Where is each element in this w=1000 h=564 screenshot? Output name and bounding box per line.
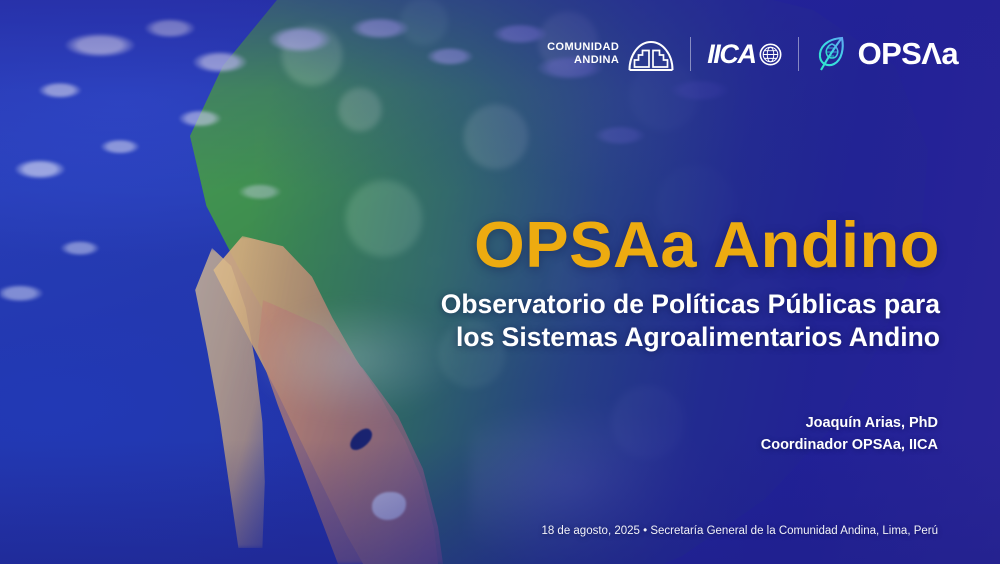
- page-subtitle: Observatorio de Políticas Públicas para …: [240, 288, 940, 354]
- logo-divider-1: [690, 37, 691, 71]
- leaf-swirl-icon: [815, 34, 849, 74]
- author-block: Joaquín Arias, PhD Coordinador OPSAa, II…: [761, 412, 938, 457]
- author-name: Joaquín Arias, PhD: [761, 412, 938, 434]
- author-role: Coordinador OPSAa, IICA: [761, 434, 938, 456]
- logo-iica: IICA: [707, 39, 781, 70]
- headline-block: OPSAa Andino Observatorio de Políticas P…: [240, 212, 940, 355]
- comunidad-andina-wordmark: COMUNIDAD ANDINA: [547, 41, 619, 67]
- footer-credit: 18 de agosto, 2025 • Secretaría General …: [541, 523, 938, 539]
- logo-bar: COMUNIDAD ANDINA IICA: [547, 34, 958, 74]
- page-subtitle-line2: los Sistemas Agroalimentarios Andino: [456, 322, 940, 352]
- globe-icon: [759, 43, 782, 66]
- andean-arch-icon: [628, 38, 674, 71]
- iica-wordmark: IICA: [707, 39, 755, 70]
- logo-comunidad-andina: COMUNIDAD ANDINA: [547, 38, 674, 71]
- comunidad-andina-line1: COMUNIDAD: [547, 41, 619, 54]
- logo-opsaa: OPSΛa: [815, 34, 958, 74]
- opsaa-wordmark-lambda: Λ: [921, 36, 941, 72]
- page-subtitle-line1: Observatorio de Políticas Públicas para: [441, 289, 940, 319]
- comunidad-andina-line2: ANDINA: [547, 54, 619, 67]
- page-title: OPSAa Andino: [240, 212, 940, 278]
- opsaa-wordmark-part1: OPS: [858, 36, 922, 72]
- opsaa-wordmark-part3: a: [941, 36, 958, 72]
- opsaa-wordmark: OPSΛa: [858, 36, 958, 72]
- title-slide: COMUNIDAD ANDINA IICA: [0, 0, 1000, 564]
- logo-divider-2: [798, 37, 799, 71]
